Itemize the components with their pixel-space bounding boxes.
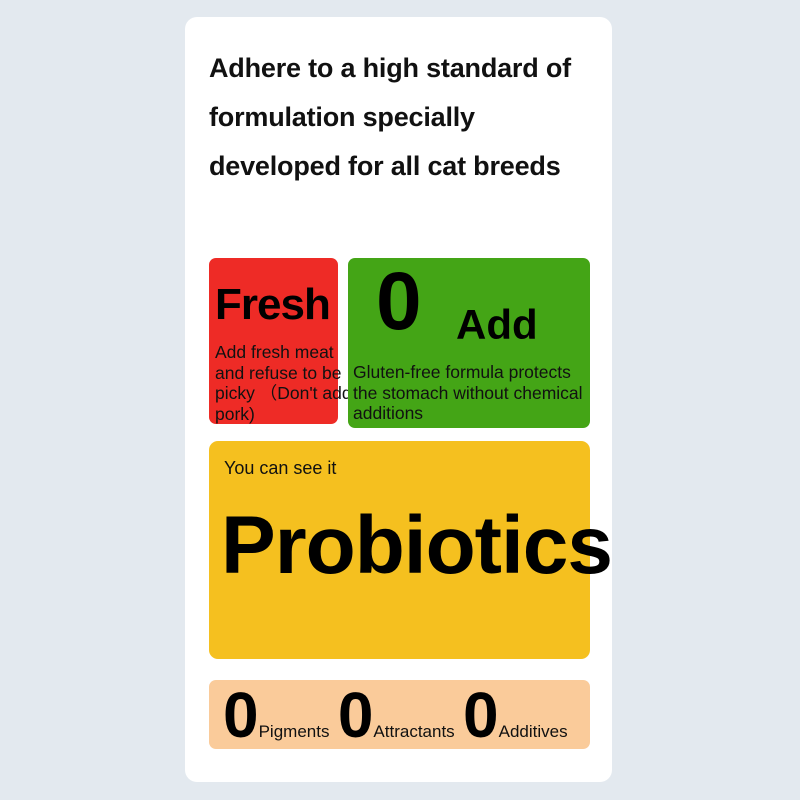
fresh-panel-body: Add fresh meat and refuse to be picky （D… xyxy=(215,342,361,425)
zero-add-number: 0 xyxy=(376,261,422,343)
zero-claim-item: 0 Pigments xyxy=(223,689,338,741)
zero-claim-label: Attractants xyxy=(373,723,454,740)
fresh-panel-title: Fresh xyxy=(215,283,330,327)
probiotics-eyebrow: You can see it xyxy=(224,459,336,477)
zero-claim-number: 0 xyxy=(223,689,258,741)
page-title: Adhere to a high standard of formulation… xyxy=(209,44,599,191)
feature-panel-zero-add: 0 Add Gluten-free formula protects the s… xyxy=(348,258,590,428)
infographic-card: Adhere to a high standard of formulation… xyxy=(185,17,612,782)
zero-add-word: Add xyxy=(456,304,538,346)
zero-claim-item: 0 Additives xyxy=(463,689,576,741)
zero-claim-label: Additives xyxy=(499,723,568,740)
zero-claim-number: 0 xyxy=(463,689,498,741)
zero-claim-number: 0 xyxy=(338,689,373,741)
zero-add-body: Gluten-free formula protects the stomach… xyxy=(353,362,597,424)
zero-claims-strip: 0 Pigments 0 Attractants 0 Additives xyxy=(209,680,590,749)
zero-claim-label: Pigments xyxy=(259,723,330,740)
feature-panel-fresh: Fresh Add fresh meat and refuse to be pi… xyxy=(209,258,338,424)
probiotics-title: Probiotics xyxy=(221,505,612,587)
feature-panel-probiotics: You can see it Probiotics xyxy=(209,441,590,659)
zero-claim-item: 0 Attractants xyxy=(338,689,463,741)
